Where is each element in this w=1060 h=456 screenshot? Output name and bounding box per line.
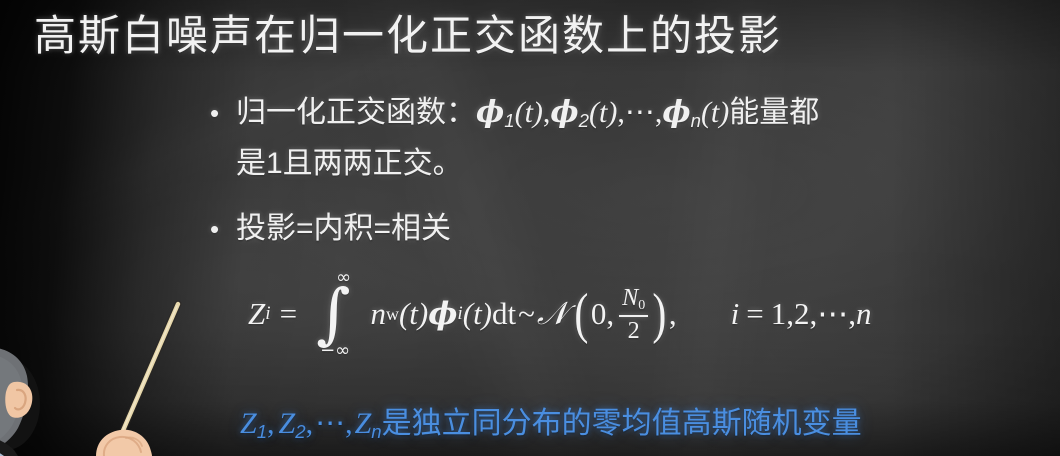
bullet-item-1: • 归一化正交函数：ϕ1(t),ϕ2(t),⋯,ϕn(t)能量都 是1且两两正交… <box>210 92 1060 186</box>
index-variable: i <box>731 296 740 332</box>
phi-1-argument: (t) <box>515 96 543 129</box>
dist-mean: 0 <box>591 296 607 332</box>
presenter-overlay <box>0 286 210 456</box>
bullet-1-prefix: 归一化正交函数： <box>236 96 476 129</box>
basis-phi-base: ϕ <box>428 296 457 332</box>
N0-base: N <box>622 284 638 311</box>
projection-formula: Zi = ∞ ∫ −∞ nw(t)ϕi(t)dt ~ 𝒩 ( 0 , N0 2 … <box>248 283 872 345</box>
distributed-as-tilde: ~ <box>518 296 535 332</box>
conclusion-z2-base: Z <box>279 407 296 440</box>
formula-lhs-subscript: i <box>265 303 270 325</box>
bullet-2-text: 投影=内积=相关 <box>236 208 451 250</box>
conclusion-comma-2: , <box>306 407 314 440</box>
integral-operator: ∞ ∫ −∞ <box>316 283 350 345</box>
conclusion-zn-subscript: n <box>371 421 381 442</box>
N0-subscript: 0 <box>638 298 645 313</box>
formula-lhs: Zi <box>248 296 271 332</box>
comma-2: , <box>617 96 625 129</box>
phi-n-base: ϕ <box>662 95 690 130</box>
index-range: i=1,2,⋯,n <box>731 296 872 332</box>
variance-denominator: 2 <box>625 318 643 343</box>
conclusion-comma-1: , <box>267 407 275 440</box>
index-last: n <box>856 296 872 332</box>
phi-1-subscript: 1 <box>504 110 514 131</box>
formula-lhs-base: Z <box>248 296 265 332</box>
bullet-1-text: 归一化正交函数：ϕ1(t),ϕ2(t),⋯,ϕn(t)能量都 <box>236 92 819 142</box>
noise-base: n <box>370 296 386 332</box>
presenter-head <box>0 346 40 456</box>
pointer-stick-icon <box>115 304 178 449</box>
basis-phi-argument: (t) <box>463 296 492 332</box>
formula-trailing-comma: , <box>669 296 677 332</box>
conclusion-comma-3: , <box>345 407 353 440</box>
integral-sign-icon: ∫ <box>316 283 350 345</box>
conclusion-text: 是独立同分布的零均值高斯随机变量 <box>382 407 862 440</box>
index-comma: , <box>848 296 856 332</box>
phi-2-subscript: 2 <box>579 110 589 131</box>
phi-2-argument: (t) <box>589 96 617 129</box>
ellipsis-icon: ⋯ <box>625 96 655 129</box>
phi-1-base: ϕ <box>476 95 504 130</box>
bullet-marker-icon: • <box>210 92 236 134</box>
formula-integrand: nw(t)ϕi(t)dt <box>370 296 516 332</box>
bullet-1-line-2: 是1且两两正交。 <box>236 142 1060 186</box>
noise-argument: (t) <box>399 296 428 332</box>
bullet-1-suffix: 能量都 <box>729 96 819 129</box>
slide-canvas: 高斯白噪声在归一化正交函数上的投影 • 归一化正交函数：ϕ1(t),ϕ2(t),… <box>0 0 1060 456</box>
bullet-item-2: • 投影=内积=相关 <box>210 208 451 250</box>
paren-close: ) <box>653 292 667 337</box>
differential-dt: dt <box>492 296 516 332</box>
variance-fraction: N0 2 <box>619 285 648 343</box>
formula-equals: = <box>280 296 297 332</box>
conclusion-z1-subscript: 1 <box>257 421 267 442</box>
bullet-1-line-1: • 归一化正交函数：ϕ1(t),ϕ2(t),⋯,ϕn(t)能量都 <box>210 92 1060 142</box>
bullet-marker-icon: • <box>210 208 236 250</box>
conclusion-z2-subscript: 2 <box>295 421 305 442</box>
phi-n-subscript: n <box>691 110 701 131</box>
index-ellipsis-icon: ⋯ <box>817 296 848 332</box>
paren-open: ( <box>575 292 589 337</box>
index-values: 1,2, <box>771 296 818 332</box>
normal-distribution-symbol: 𝒩 <box>537 296 567 333</box>
integral-lower-limit: −∞ <box>320 340 350 361</box>
variance-numerator: N0 <box>619 285 648 314</box>
slide-title: 高斯白噪声在归一化正交函数上的投影 <box>34 2 782 63</box>
presenter-hand <box>96 430 152 456</box>
bullet-2-line-1: • 投影=内积=相关 <box>210 208 451 250</box>
phi-2-base: ϕ <box>550 95 578 130</box>
conclusion-line: Z1,Z2,⋯,Zn是独立同分布的零均值高斯随机变量 <box>240 398 862 443</box>
integral-upper-limit: ∞ <box>336 267 351 288</box>
conclusion-z1-base: Z <box>240 407 257 440</box>
noise-subscript: w <box>386 304 399 325</box>
conclusion-zn-base: Z <box>355 407 372 440</box>
phi-n-argument: (t) <box>701 96 729 129</box>
index-equals: = <box>746 296 763 332</box>
dist-mean-comma: , <box>606 296 614 332</box>
conclusion-ellipsis-icon: ⋯ <box>315 407 345 440</box>
